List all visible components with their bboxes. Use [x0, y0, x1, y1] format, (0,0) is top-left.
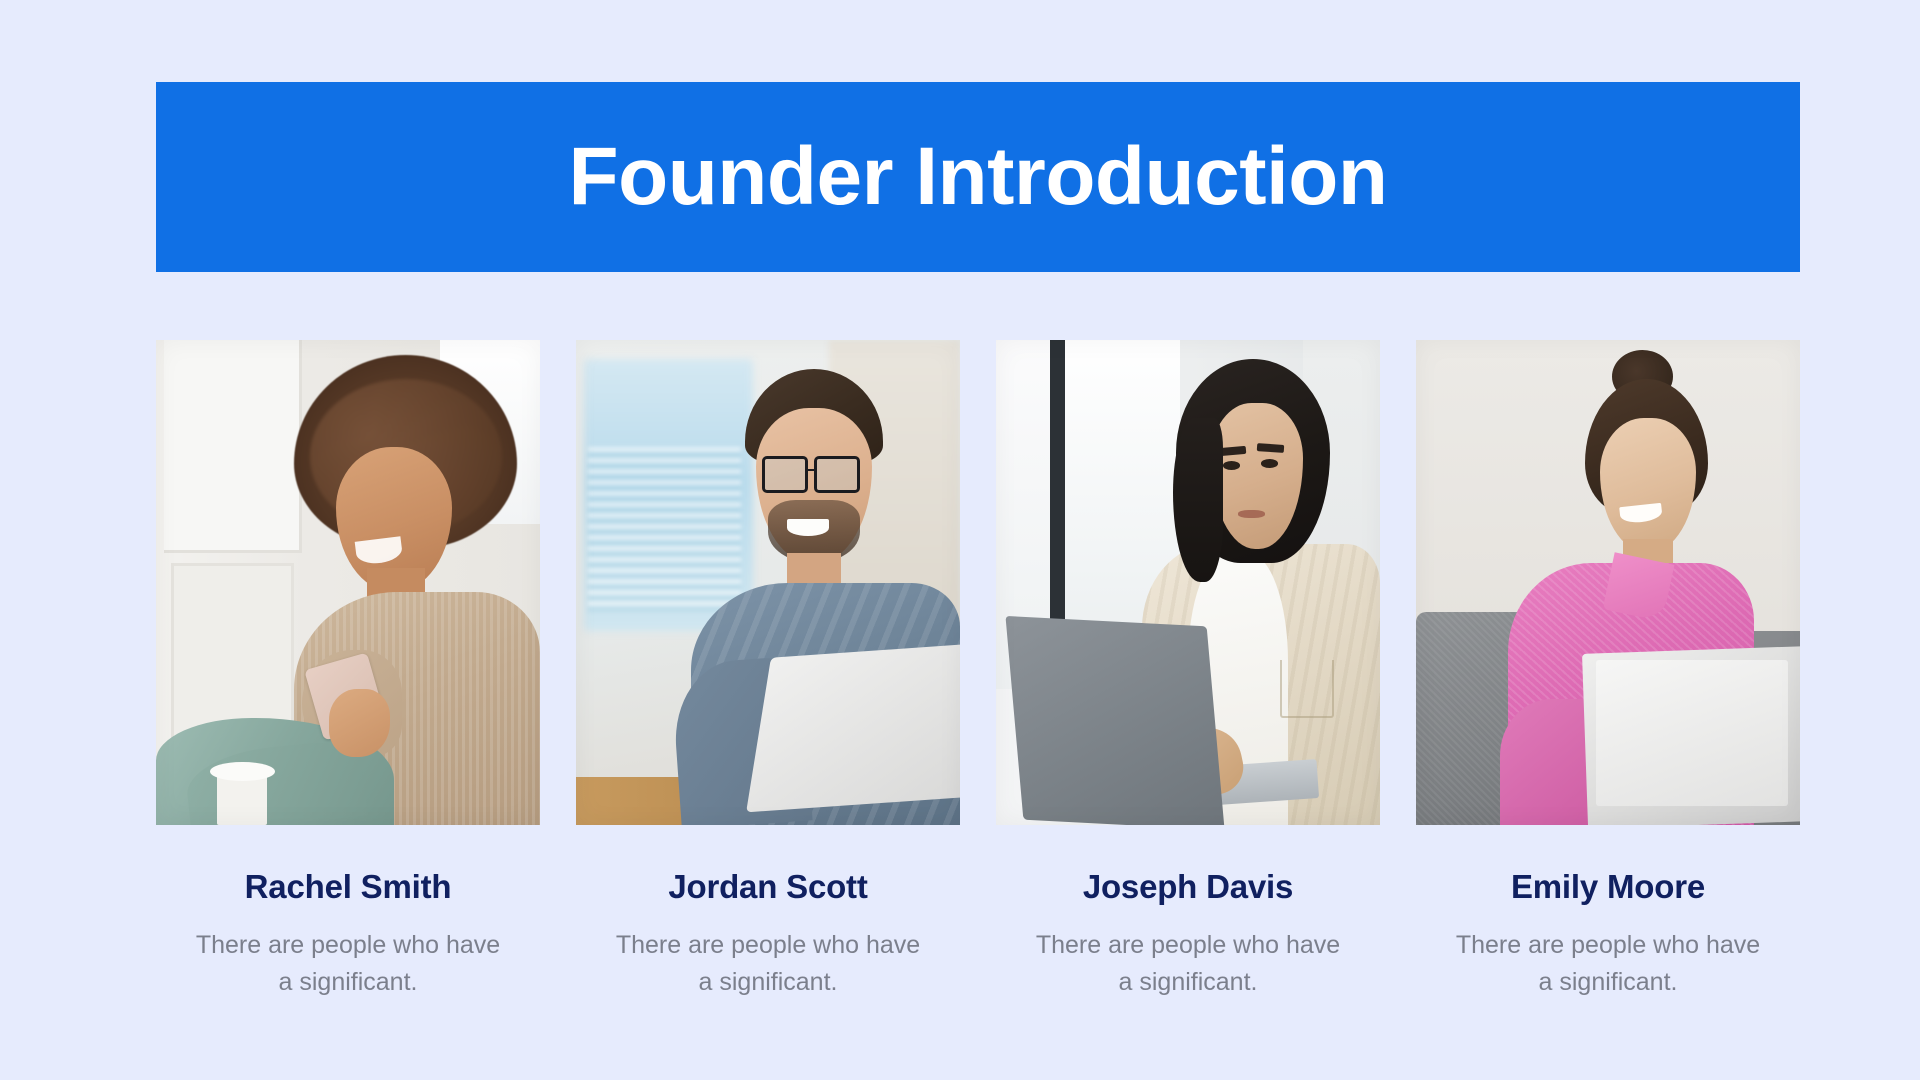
founder-description: There are people who have a significant. [1033, 927, 1343, 1001]
founder-name: Rachel Smith [245, 869, 452, 905]
founder-name: Joseph Davis [1083, 869, 1293, 905]
founder-description: There are people who have a significant. [193, 927, 503, 1001]
founder-photo-joseph-davis [996, 340, 1380, 825]
founder-photo-rachel-smith [156, 340, 540, 825]
founder-description: There are people who have a significant. [613, 927, 923, 1001]
founder-description: There are people who have a significant. [1453, 927, 1763, 1001]
founder-card-jordan-scott[interactable]: Jordan Scott There are people who have a… [576, 340, 960, 1001]
page-title: Founder Introduction [569, 136, 1388, 218]
founder-photo-jordan-scott [576, 340, 960, 825]
founder-photo-emily-moore [1416, 340, 1800, 825]
founder-name: Jordan Scott [668, 869, 867, 905]
founder-name: Emily Moore [1511, 869, 1705, 905]
title-banner: Founder Introduction [156, 82, 1800, 272]
founder-card-emily-moore[interactable]: Emily Moore There are people who have a … [1416, 340, 1800, 1001]
founders-row: Rachel Smith There are people who have a… [156, 340, 1800, 1001]
slide-canvas: Founder Introduction [0, 0, 1920, 1080]
founder-card-joseph-davis[interactable]: Joseph Davis There are people who have a… [996, 340, 1380, 1001]
founder-card-rachel-smith[interactable]: Rachel Smith There are people who have a… [156, 340, 540, 1001]
